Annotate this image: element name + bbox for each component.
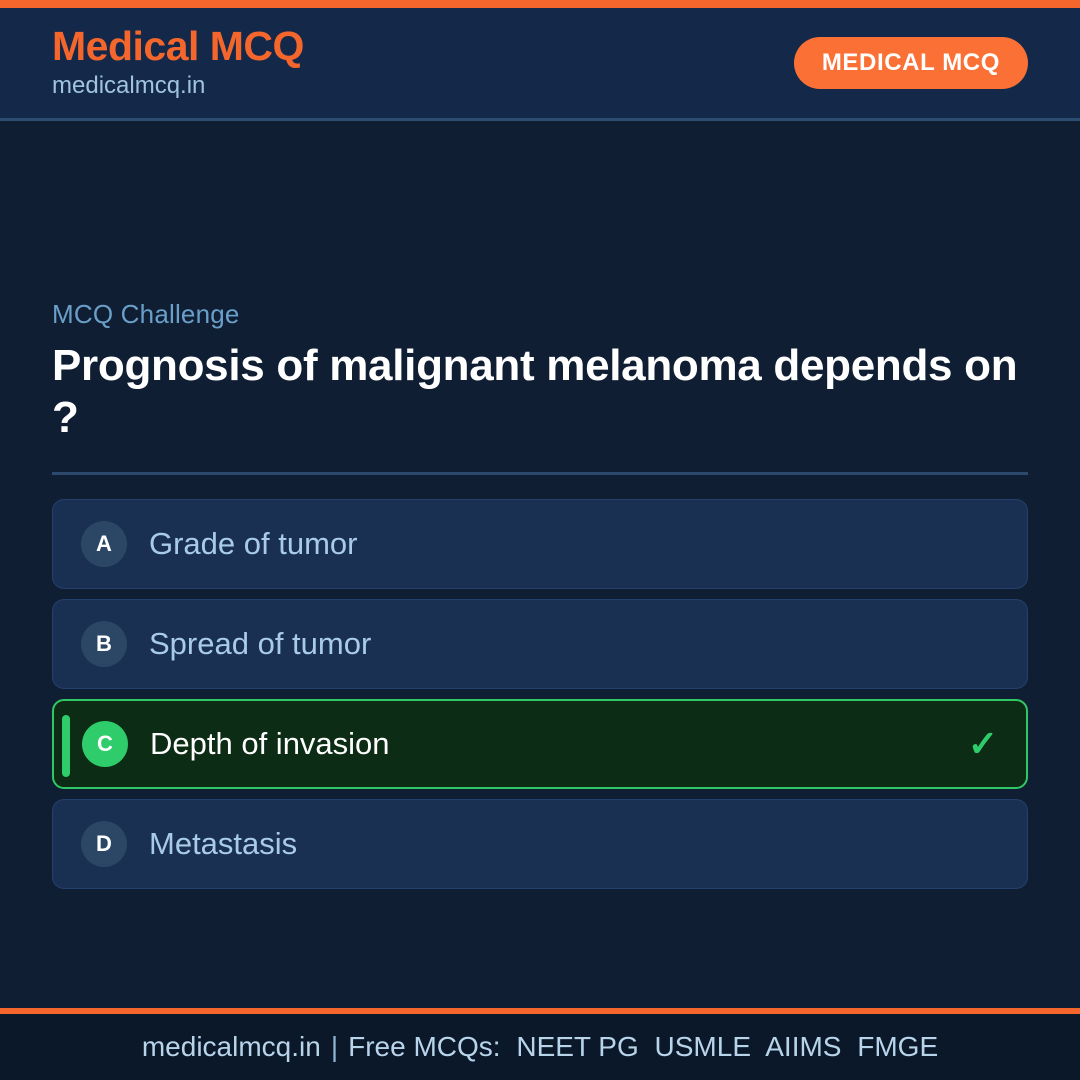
- footer-separator: |: [321, 1031, 348, 1062]
- option-b[interactable]: BSpread of tumor: [52, 599, 1028, 689]
- option-text: Depth of invasion: [150, 727, 958, 761]
- option-letter-badge: D: [81, 821, 127, 867]
- question-text: Prognosis of malignant melanoma depends …: [52, 340, 1028, 444]
- options-list: AGrade of tumorBSpread of tumorCDepth of…: [52, 499, 1028, 889]
- top-accent-bar: [0, 0, 1080, 8]
- option-a[interactable]: AGrade of tumor: [52, 499, 1028, 589]
- option-letter-badge: B: [81, 621, 127, 667]
- footer: medicalmcq.in|Free MCQs: NEET PG USMLE A…: [0, 1008, 1080, 1080]
- main-content: MCQ Challenge Prognosis of malignant mel…: [0, 121, 1080, 1008]
- brand-subtitle: medicalmcq.in: [52, 71, 304, 101]
- footer-site[interactable]: medicalmcq.in: [142, 1031, 321, 1062]
- option-c[interactable]: CDepth of invasion✓: [52, 699, 1028, 789]
- footer-exam-aiims: AIIMS: [751, 1031, 841, 1062]
- footer-label: Free MCQs:: [348, 1031, 500, 1062]
- question-divider: [52, 472, 1028, 475]
- option-text: Grade of tumor: [149, 527, 959, 561]
- header: Medical MCQ medicalmcq.in MEDICAL MCQ: [0, 8, 1080, 121]
- mcq-card: Medical MCQ medicalmcq.in MEDICAL MCQ MC…: [0, 0, 1080, 1080]
- brand-title: Medical MCQ: [52, 25, 304, 68]
- brand: Medical MCQ medicalmcq.in: [52, 25, 304, 100]
- footer-exam-usmle: USMLE: [639, 1031, 751, 1062]
- option-text: Spread of tumor: [149, 627, 959, 661]
- header-badge: MEDICAL MCQ: [794, 37, 1028, 89]
- eyebrow-label: MCQ Challenge: [52, 299, 1028, 330]
- option-letter-badge: C: [82, 721, 128, 767]
- option-d[interactable]: DMetastasis: [52, 799, 1028, 889]
- option-letter-badge: A: [81, 521, 127, 567]
- footer-exam-neet-pg: NEET PG: [501, 1031, 639, 1062]
- check-icon: ✓: [958, 726, 998, 762]
- footer-exam-fmge: FMGE: [841, 1031, 938, 1062]
- correct-accent-bar: [62, 715, 70, 777]
- option-text: Metastasis: [149, 827, 959, 861]
- question-block: MCQ Challenge Prognosis of malignant mel…: [52, 299, 1028, 444]
- footer-text: medicalmcq.in|Free MCQs: NEET PG USMLE A…: [142, 1031, 938, 1063]
